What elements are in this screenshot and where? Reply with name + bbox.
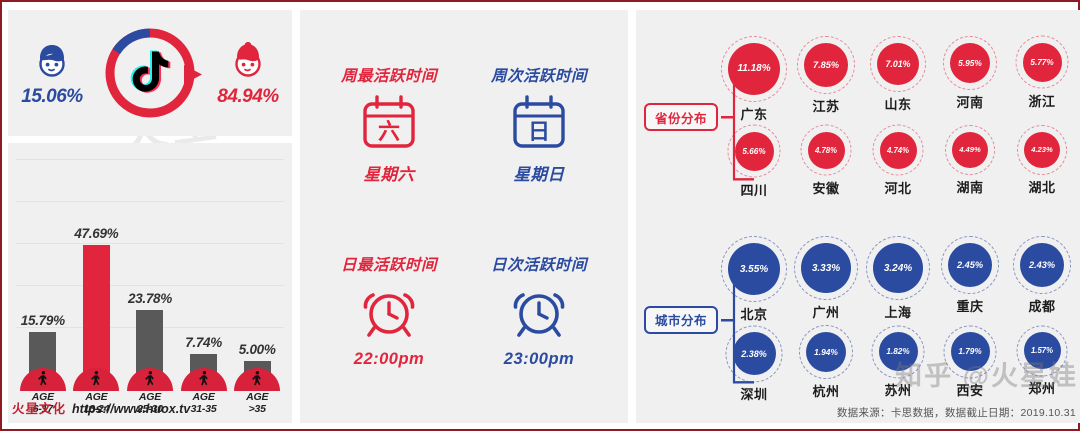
province-distribution-block: 省份分布 11.18%广东7.85%江苏7.01%山东5.95%河南5.77%浙… [644,16,1078,219]
bar-base-icons [16,368,284,391]
bar-item: 23.78% [124,157,176,375]
bubble-cell: 3.24%上海 [862,236,934,321]
bubble-cell: 1.94%杭州 [790,325,862,400]
svg-text:日: 日 [528,120,550,145]
bubble-label: 安徽 [812,178,839,197]
bubble-label: 河南 [956,92,983,111]
province-connector-lines [720,16,756,219]
bubble-cell: 1.79%西安 [934,325,1006,399]
bar-base-shape [127,368,173,391]
weekly-peak-value: 星期六 [364,161,415,185]
bubble-label: 河北 [884,178,911,197]
alarm-clock-icon [510,283,568,344]
male-group: 15.06% [8,39,96,108]
brand-footer: 火星文化 https://www.huox.tv [12,398,190,417]
daily-peak-cell: 日最活跃时间 22:00pm [314,253,464,369]
bubble-label: 江苏 [812,96,839,115]
bubble-row: 11.18%广东7.85%江苏7.01%山东5.95%河南5.77%浙江 [718,36,1078,123]
bubble: 2.43% [1013,236,1071,294]
bubble-row: 5.66%四川4.78%安徽4.74%河北4.49%湖南4.23%湖北 [718,125,1078,199]
bubble-ring [1017,125,1067,175]
bubble: 1.82% [872,325,925,378]
bubble: 1.57% [1017,325,1068,376]
bar-base-shape [20,368,66,391]
bubble-cell: 4.78%安徽 [790,125,862,197]
source-note: 数据来源：卡思数据，数据截止日期：2019.10.31 [837,405,1076,420]
bubble-ring [801,125,852,176]
bar-rect [83,245,110,375]
bubble-label: 杭州 [812,381,839,400]
city-tag: 城市分布 [644,306,718,334]
bubble-cell: 5.77%浙江 [1006,36,1078,110]
bubble-ring [945,125,995,175]
bubble: 3.24% [866,236,930,300]
bar-base-item [231,368,283,391]
calendar-icon: 六 [360,94,418,155]
dancer-icon [88,371,104,391]
city-connector-lines [720,219,756,422]
bubble: 7.85% [797,36,855,94]
province-tag: 省份分布 [644,103,718,131]
bar-base-item [124,368,176,391]
gender-distribution-panel: 15.06% [8,10,292,136]
bubble-ring [794,236,858,300]
bubble-cell: 1.57%郑州 [1006,325,1078,397]
bubble-label: 浙江 [1028,91,1055,110]
bubble-label: 郑州 [1028,378,1055,397]
bubble-ring [941,236,999,294]
weekly-activity-row: 周最活跃时间 六 星期六 周次活跃时间 [314,64,614,185]
bubble-label: 苏州 [884,380,911,399]
female-percent: 84.94% [217,86,278,108]
bar-series: 15.79%47.69%23.78%7.74%5.00% [16,157,284,375]
bar-item: 7.74% [178,157,230,375]
dancer-icon [249,371,265,391]
daily-second-cell: 日次活跃时间 23:00pm [464,253,614,369]
alarm-clock-icon [360,283,418,344]
bubble-ring [797,36,855,94]
bubble-cell: 2.43%成都 [1006,236,1078,315]
bubble-ring [943,36,997,90]
bubble-ring [799,325,853,379]
bubble: 7.01% [870,36,926,92]
daily-second-title: 日次活跃时间 [491,253,587,275]
bubble-cell: 7.85%江苏 [790,36,862,115]
daily-second-value: 23:00pm [504,350,574,369]
bubble: 1.79% [944,325,997,378]
female-avatar-icon [226,39,270,83]
male-percent: 15.06% [21,86,82,108]
age-bar-chart: 15.79%47.69%23.78%7.74%5.00% AGE6-17AGE1… [16,153,284,419]
daily-activity-row: 日最活跃时间 22:00pm [314,253,614,369]
bar-item: 47.69% [70,157,122,375]
bubble-label: 上海 [884,302,911,321]
bubble-ring [1013,236,1071,294]
bar-base-item [70,368,122,391]
bubble-label: 成都 [1028,296,1055,315]
bar-base-shape [181,368,227,391]
bubble-cell: 4.74%河北 [862,125,934,197]
bar-base-shape [234,368,280,391]
bubble-cell: 5.95%河南 [934,36,1006,111]
bar-item: 15.79% [17,157,69,375]
dancer-icon [142,371,158,391]
infographic-page: 火星 文化 卡思 15.06% [2,2,1078,429]
activity-time-panel: 周最活跃时间 六 星期六 周次活跃时间 [300,10,628,423]
brand-name: 火星文化 [12,398,66,417]
bubble-label: 山东 [884,94,911,113]
bar-value-label: 23.78% [128,291,172,306]
bubble: 4.23% [1017,125,1067,175]
dancer-icon [35,371,51,391]
bubble: 3.33% [794,236,858,300]
bubble-ring [870,36,926,92]
city-distribution-block: 城市分布 3.55%北京3.33%广州3.24%上海2.45%重庆2.43%成都… [644,219,1078,422]
bubble: 5.77% [1016,36,1069,89]
bubble-label: 广州 [812,302,839,321]
bubble-label: 重庆 [956,296,983,315]
bubble-label: 西安 [956,380,983,399]
bar-base-item [17,368,69,391]
daily-peak-title: 日最活跃时间 [341,253,437,275]
svg-text:六: 六 [378,120,400,145]
right-column: 省份分布 11.18%广东7.85%江苏7.01%山东5.95%河南5.77%浙… [636,10,1080,423]
weekly-peak-cell: 周最活跃时间 六 星期六 [314,64,464,185]
bubble-ring [872,325,925,378]
bubble: 4.49% [945,125,995,175]
middle-column: 周最活跃时间 六 星期六 周次活跃时间 [300,10,628,423]
province-bubble-rows: 11.18%广东7.85%江苏7.01%山东5.95%河南5.77%浙江5.66… [718,36,1078,199]
bubble-ring [1017,325,1068,376]
bubble: 4.78% [801,125,852,176]
bar-category-label: AGE>35 [231,391,283,419]
bubble-label: 湖南 [956,177,983,196]
male-avatar-icon [30,39,74,83]
weekly-peak-title: 周最活跃时间 [341,64,437,86]
bar-value-label: 7.74% [185,335,222,350]
daily-peak-value: 22:00pm [354,350,424,369]
bubble: 5.95% [943,36,997,90]
bar-value-label: 47.69% [74,226,118,241]
bar-base-item [178,368,230,391]
bubble-cell: 4.49%湖南 [934,125,1006,196]
bar-value-label: 5.00% [239,342,276,357]
bubble-label: 湖北 [1028,177,1055,196]
bubble-cell: 4.23%湖北 [1006,125,1078,196]
brand-url: https://www.huox.tv [72,402,190,416]
geo-distribution-panel: 省份分布 11.18%广东7.85%江苏7.01%山东5.95%河南5.77%浙… [636,10,1080,423]
dancer-icon [196,371,212,391]
weekly-second-value: 星期日 [514,161,565,185]
bubble-cell: 7.01%山东 [862,36,934,113]
bubble-cell: 3.33%广州 [790,236,862,321]
city-bubble-rows: 3.55%北京3.33%广州3.24%上海2.45%重庆2.43%成都2.38%… [718,236,1078,403]
tiktok-logo-icon [129,48,171,99]
female-group: 84.94% [204,39,292,108]
bubble-ring [866,236,930,300]
bar-rect [136,310,163,375]
bubble: 2.45% [941,236,999,294]
weekly-second-cell: 周次活跃时间 日 星期日 [464,64,614,185]
bubble-ring [944,325,997,378]
bubble-ring [1016,36,1069,89]
left-column: 15.06% [8,10,292,423]
bar-value-label: 15.79% [21,313,65,328]
bar-base-shape [73,368,119,391]
bubble: 1.94% [799,325,853,379]
calendar-icon: 日 [510,94,568,155]
bubble-ring [873,125,924,176]
weekly-second-title: 周次活跃时间 [491,64,587,86]
bubble-row: 2.38%深圳1.94%杭州1.82%苏州1.79%西安1.57%郑州 [718,325,1078,403]
bubble-row: 3.55%北京3.33%广州3.24%上海2.45%重庆2.43%成都 [718,236,1078,323]
bar-item: 5.00% [231,157,283,375]
bubble-cell: 2.45%重庆 [934,236,1006,315]
bubble-cell: 1.82%苏州 [862,325,934,399]
gender-donut-chart [98,21,202,125]
bubble: 4.74% [873,125,924,176]
age-distribution-panel: 15.79%47.69%23.78%7.74%5.00% AGE6-17AGE1… [8,143,292,423]
